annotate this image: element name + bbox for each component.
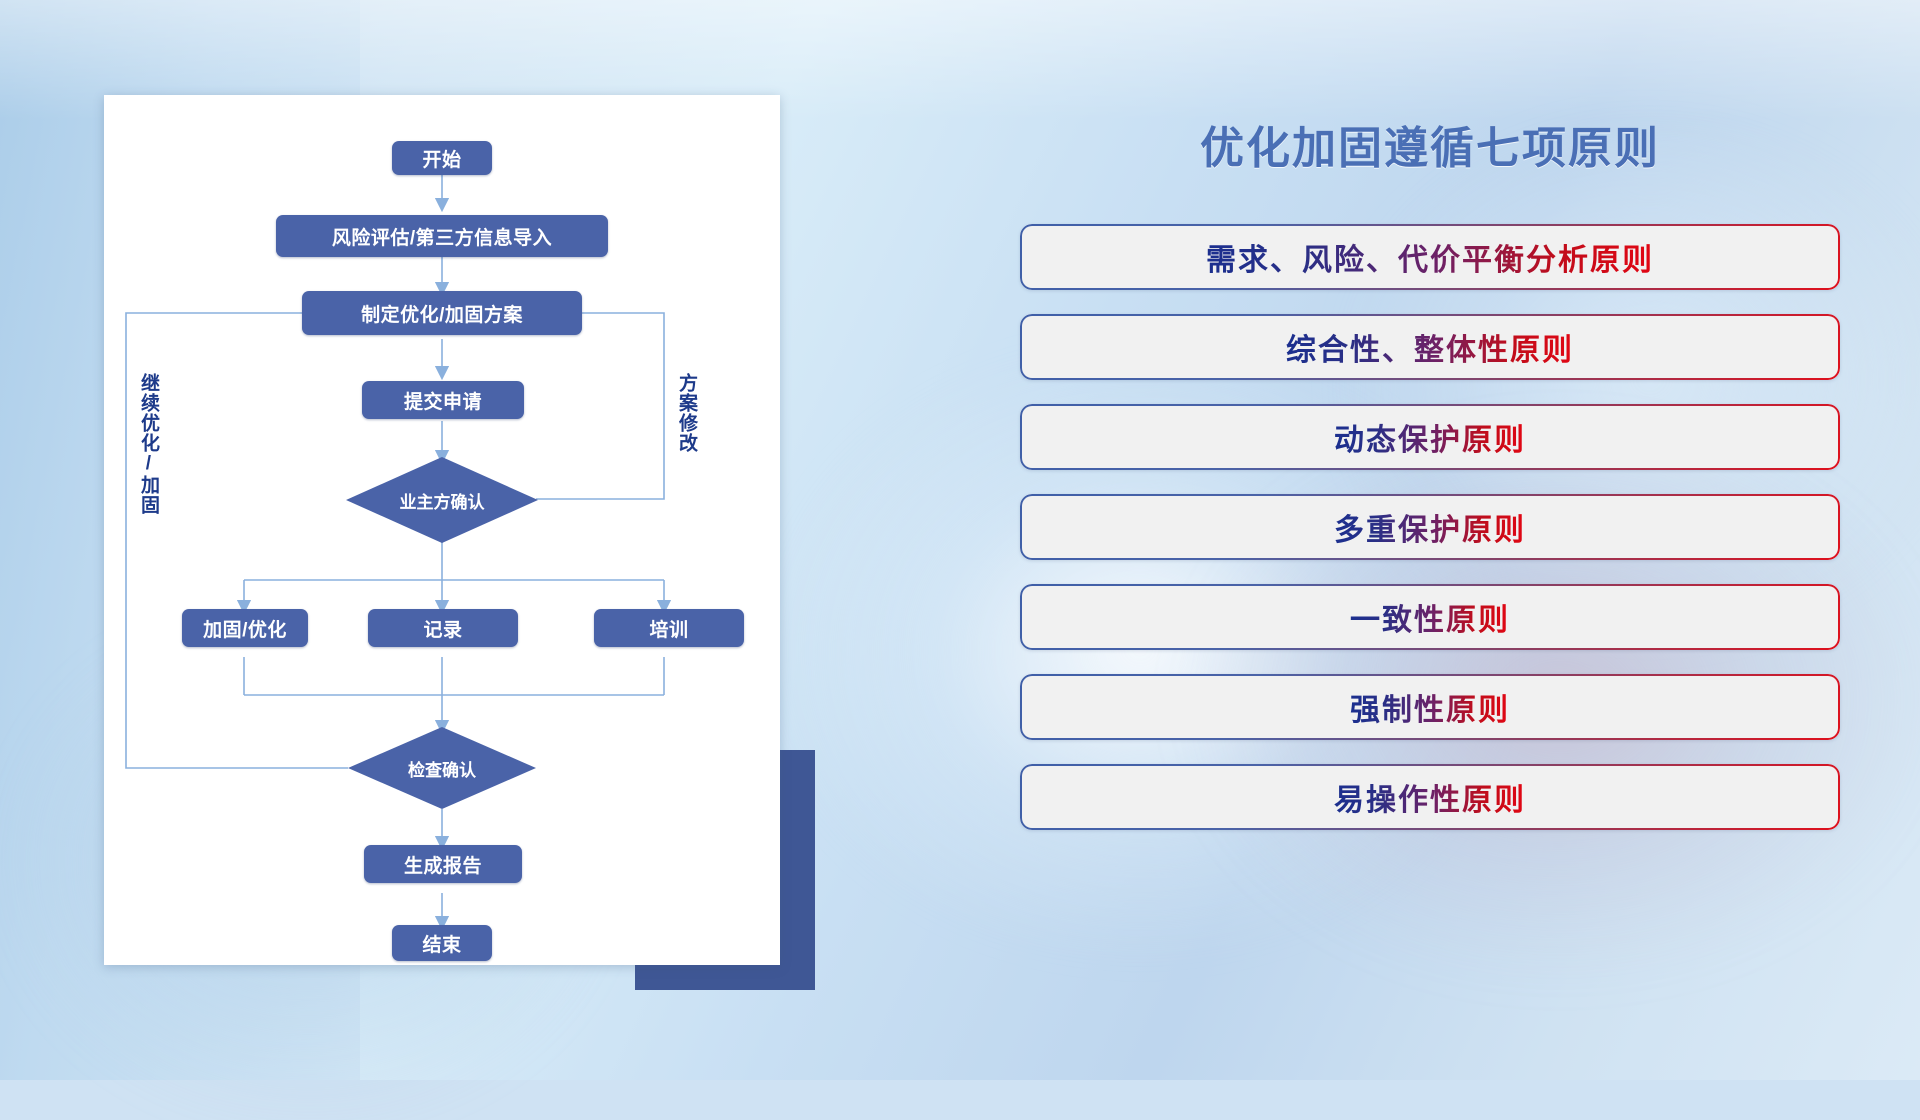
- flow-edge-label-continue-optimize: 继续优化/加固: [138, 373, 158, 563]
- flow-node-submit-label: 提交申请: [404, 387, 482, 414]
- principles-list: 需求、风险、代价平衡分析原则 综合性、整体性原则 动态保护原则 多重保护原则 一…: [1020, 224, 1840, 830]
- flow-node-end[interactable]: 结束: [392, 925, 492, 961]
- flowchart-panel: 开始 风险评估/第三方信息导入 制定优化/加固方案 提交申请 业主方确认 加固/…: [104, 95, 780, 965]
- principle-item-3-label: 动态保护原则: [1334, 415, 1526, 459]
- flow-node-start[interactable]: 开始: [392, 141, 492, 175]
- principle-item-2-label: 综合性、整体性原则: [1286, 325, 1574, 369]
- flow-node-training[interactable]: 培训: [594, 609, 744, 647]
- flow-node-end-label: 结束: [422, 930, 461, 957]
- principle-item-6-label: 强制性原则: [1350, 685, 1510, 729]
- principle-item-4-label: 多重保护原则: [1334, 505, 1526, 549]
- principle-item-2[interactable]: 综合性、整体性原则: [1020, 314, 1840, 380]
- principles-title: 优化加固遵循七项原则: [1020, 112, 1840, 176]
- flowchart-canvas: 开始 风险评估/第三方信息导入 制定优化/加固方案 提交申请 业主方确认 加固/…: [104, 95, 780, 965]
- flow-node-report[interactable]: 生成报告: [364, 845, 522, 883]
- flow-node-owner-confirm-label: 业主方确认: [346, 457, 538, 543]
- principle-item-1-label: 需求、风险、代价平衡分析原则: [1206, 235, 1654, 279]
- principle-item-6[interactable]: 强制性原则: [1020, 674, 1840, 740]
- flow-node-reinforce[interactable]: 加固/优化: [182, 609, 308, 647]
- flow-node-record-label: 记录: [423, 615, 462, 642]
- principle-item-7[interactable]: 易操作性原则: [1020, 764, 1840, 830]
- flow-node-plan[interactable]: 制定优化/加固方案: [302, 291, 582, 335]
- flow-node-check-confirm[interactable]: 检查确认: [348, 727, 536, 809]
- principle-item-4[interactable]: 多重保护原则: [1020, 494, 1840, 560]
- flow-node-risk-assessment[interactable]: 风险评估/第三方信息导入: [276, 215, 608, 257]
- principles-panel: 优化加固遵循七项原则 需求、风险、代价平衡分析原则 综合性、整体性原则 动态保护…: [1020, 90, 1840, 1010]
- flow-node-plan-label: 制定优化/加固方案: [361, 300, 523, 327]
- flow-node-start-label: 开始: [422, 145, 461, 172]
- principle-item-3[interactable]: 动态保护原则: [1020, 404, 1840, 470]
- flow-node-training-label: 培训: [649, 615, 688, 642]
- flow-node-check-confirm-label: 检查确认: [348, 727, 536, 809]
- flow-node-submit[interactable]: 提交申请: [362, 381, 524, 419]
- principle-item-5-label: 一致性原则: [1350, 595, 1510, 639]
- principle-item-1[interactable]: 需求、风险、代价平衡分析原则: [1020, 224, 1840, 290]
- flow-node-report-label: 生成报告: [404, 851, 482, 878]
- flow-node-risk-assessment-label: 风险评估/第三方信息导入: [332, 223, 552, 250]
- flow-node-reinforce-label: 加固/优化: [203, 615, 287, 642]
- flow-node-owner-confirm[interactable]: 业主方确认: [346, 457, 538, 543]
- principle-item-7-label: 易操作性原则: [1334, 775, 1526, 819]
- principle-item-5[interactable]: 一致性原则: [1020, 584, 1840, 650]
- flow-node-record[interactable]: 记录: [368, 609, 518, 647]
- flow-edge-label-plan-revision: 方案修改: [676, 373, 696, 503]
